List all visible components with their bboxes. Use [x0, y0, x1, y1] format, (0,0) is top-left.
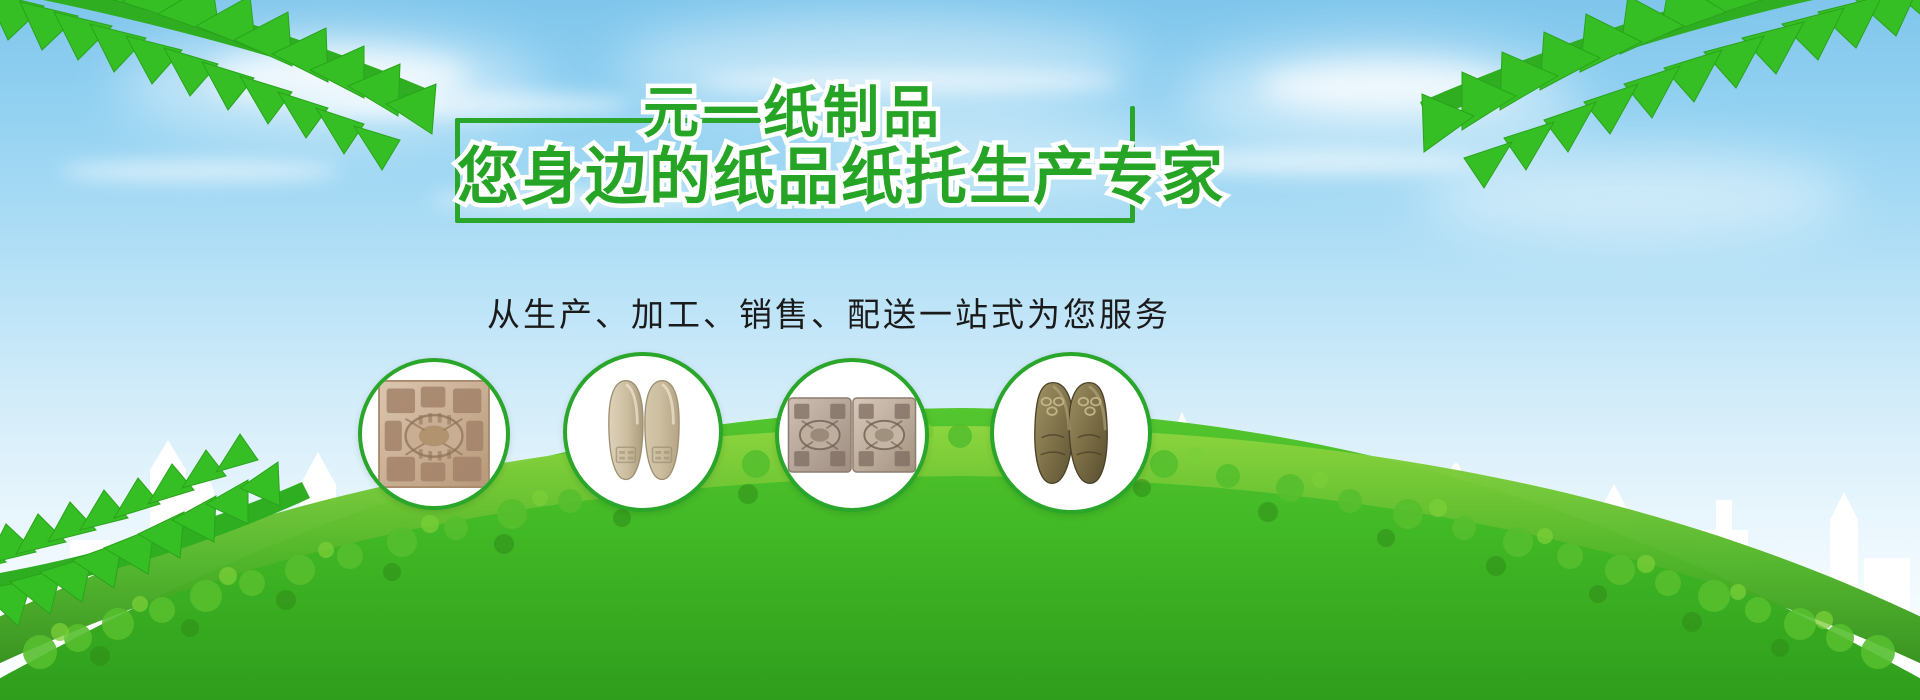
product-circle-3[interactable]	[775, 358, 929, 512]
palm-frond-bottom-left-icon	[0, 330, 340, 630]
dark-paper-shoe-forms-icon	[994, 356, 1148, 510]
double-pulp-tray-set-icon	[779, 362, 925, 508]
product-circle-4[interactable]	[990, 352, 1152, 514]
headline-line-2: 您身边的纸品纸托生产专家	[457, 144, 1225, 210]
paper-shoe-insole-pair-icon	[567, 356, 719, 508]
square-pulp-tray-icon	[362, 362, 506, 506]
headline-line-1: 元一纸制品	[643, 84, 943, 144]
frame-line-bottom	[455, 218, 1135, 223]
palm-frond-top-left-icon	[0, 0, 490, 270]
product-circle-1[interactable]	[358, 358, 510, 510]
headline-block: 元一纸制品 您身边的纸品纸托生产专家	[455, 88, 1135, 223]
product-circle-2[interactable]	[563, 352, 723, 512]
promo-banner: 元一纸制品 您身边的纸品纸托生产专家 从生产、加工、销售、配送一站式为您服务	[0, 0, 1920, 700]
banner-subtitle: 从生产、加工、销售、配送一站式为您服务	[487, 288, 1171, 336]
palm-frond-top-right-icon	[1360, 0, 1920, 260]
